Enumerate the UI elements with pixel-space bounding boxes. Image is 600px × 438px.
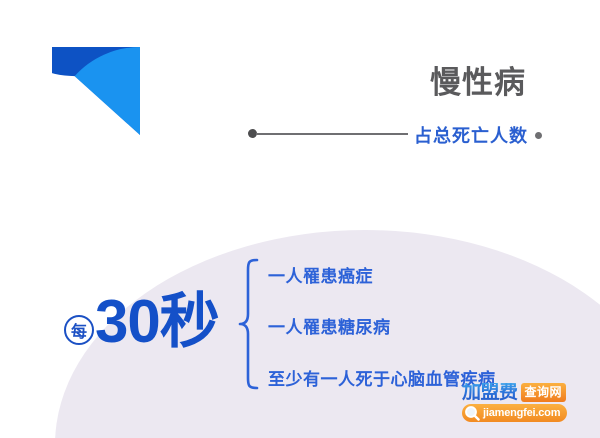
facts-list: 一人罹患癌症 一人罹患糖尿病 至少有一人死于心脑血管疾病 <box>268 258 568 390</box>
pie-chart-svg <box>52 47 228 223</box>
list-item: 一人罹患癌症 <box>268 262 373 287</box>
curly-brace-icon <box>238 258 260 390</box>
subtitle-dot-icon <box>535 132 542 139</box>
headline: 慢性病 <box>408 66 548 100</box>
watermark-brand: 加盟费 <box>462 383 518 402</box>
pie-chart: 86.6% <box>52 47 228 223</box>
watermark: 加盟费 查询网 jiamengfei.com <box>462 380 594 422</box>
search-icon <box>464 405 480 421</box>
connector <box>248 128 408 140</box>
watermark-bottom-row: jiamengfei.com <box>462 404 567 422</box>
headline-subtitle-row: 占总死亡人数 <box>414 122 542 148</box>
list-item: 一人罹患糖尿病 <box>268 313 391 338</box>
infographic-canvas: 86.6% 慢性病 占总死亡人数 每 30秒 一人罹患癌症 一人罹患糖尿病 至少… <box>0 0 600 438</box>
headline-title: 慢性病 <box>408 66 548 100</box>
connector-line <box>256 133 408 135</box>
every-number: 30秒 <box>95 292 219 352</box>
every-interval: 每 30秒 <box>64 292 219 352</box>
watermark-tag: 查询网 <box>521 383 567 402</box>
pie-percentage-label: 86.6% <box>52 145 228 180</box>
watermark-top-row: 加盟费 查询网 <box>462 380 594 402</box>
watermark-url: jiamengfei.com <box>483 408 560 419</box>
every-badge: 每 <box>64 315 94 345</box>
headline-subtitle: 占总死亡人数 <box>414 122 528 148</box>
